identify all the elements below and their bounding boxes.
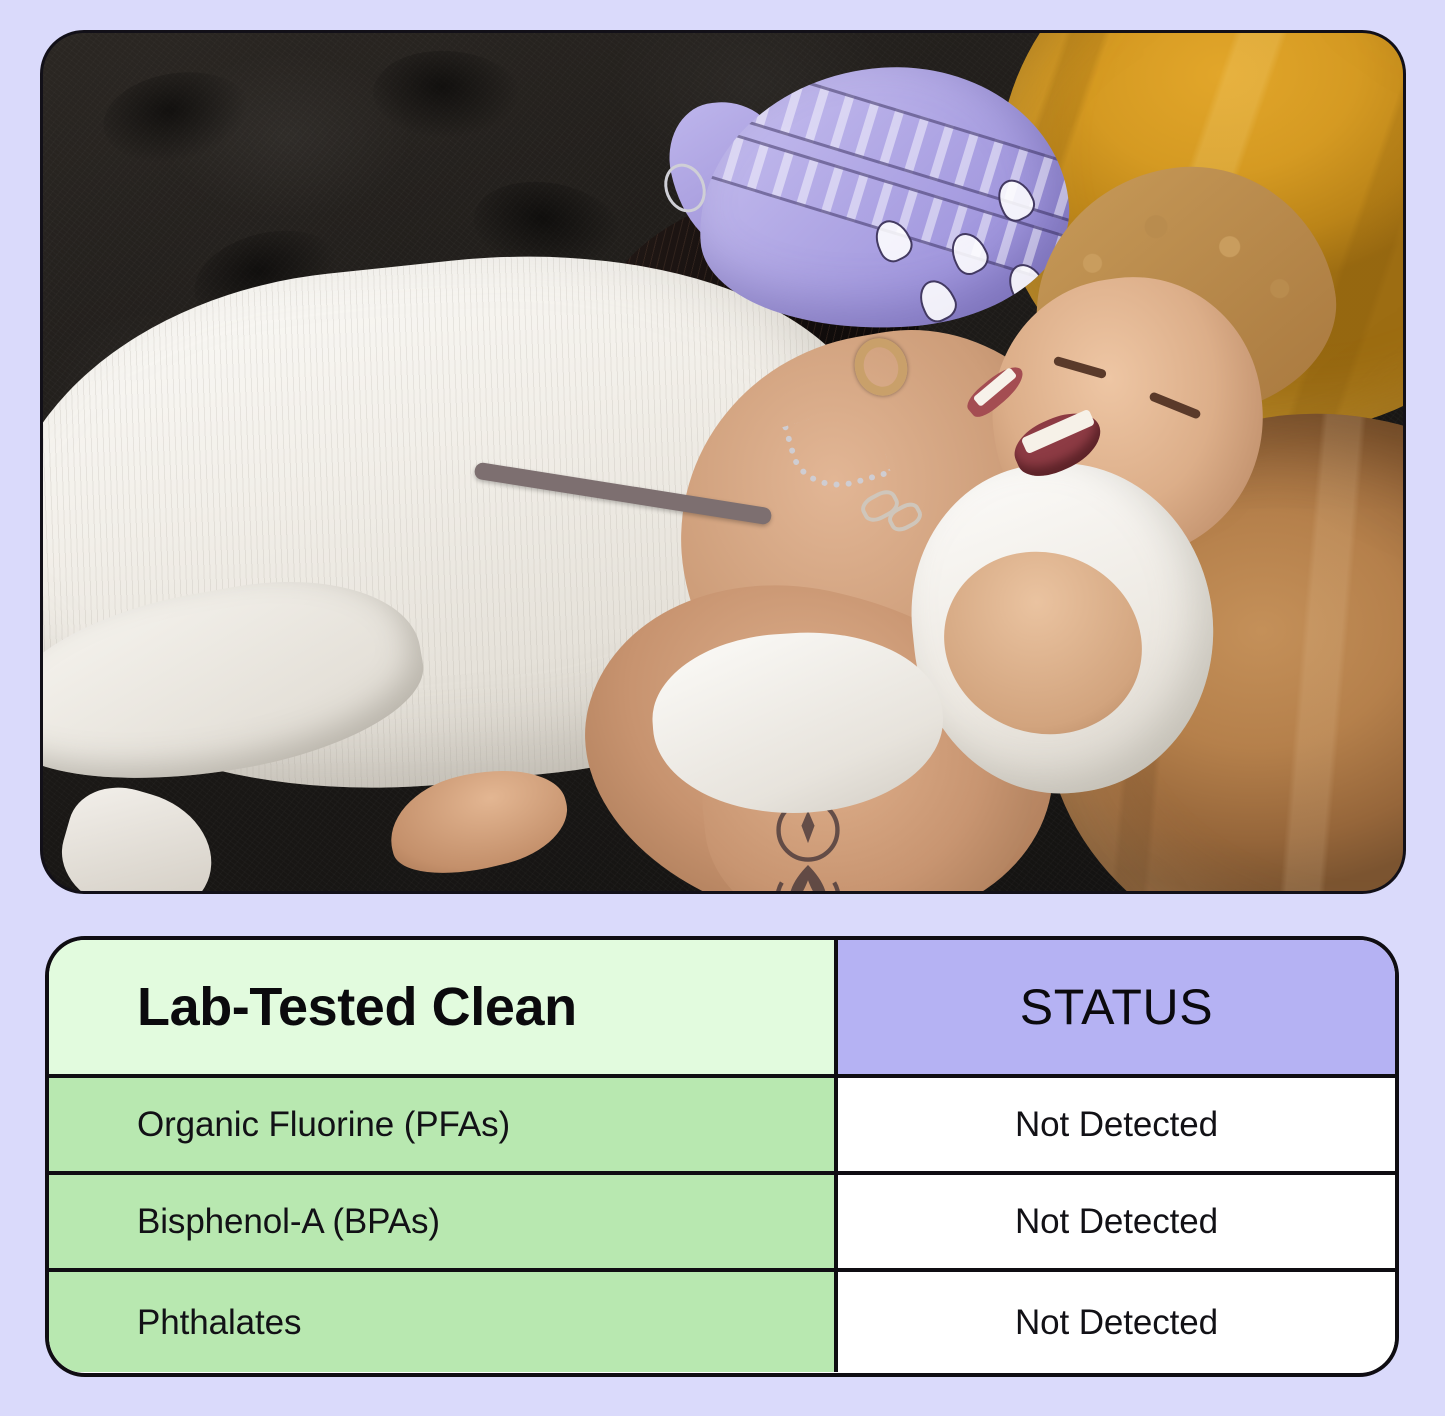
lab-results-table: Lab-Tested Clean STATUS Organic Fluorine… [45, 936, 1399, 1377]
photo-scene [43, 33, 1403, 891]
substance-cell: Bisphenol-A (BPAs) [49, 1175, 838, 1268]
header-cell-status: STATUS [838, 940, 1395, 1074]
substance-cell: Organic Fluorine (PFAs) [49, 1078, 838, 1171]
status-badge: Not Detected [1015, 1107, 1218, 1142]
status-cell: Not Detected [838, 1272, 1395, 1372]
status-cell: Not Detected [838, 1175, 1395, 1268]
substance-name: Phthalates [137, 1305, 301, 1340]
substance-name: Organic Fluorine (PFAs) [137, 1107, 510, 1142]
table-row: Phthalates Not Detected [49, 1272, 1395, 1372]
table-row: Bisphenol-A (BPAs) Not Detected [49, 1175, 1395, 1272]
substance-cell: Phthalates [49, 1272, 838, 1372]
status-badge: Not Detected [1015, 1305, 1218, 1340]
table-header-row: Lab-Tested Clean STATUS [49, 940, 1395, 1078]
table-title: Lab-Tested Clean [137, 980, 577, 1034]
table-row: Organic Fluorine (PFAs) Not Detected [49, 1078, 1395, 1175]
substance-name: Bisphenol-A (BPAs) [137, 1204, 440, 1239]
status-cell: Not Detected [838, 1078, 1395, 1171]
status-badge: Not Detected [1015, 1204, 1218, 1239]
status-column-header: STATUS [1020, 982, 1213, 1032]
hero-photo [40, 30, 1406, 894]
header-cell-title: Lab-Tested Clean [49, 940, 838, 1074]
paisley-drop [913, 274, 962, 327]
